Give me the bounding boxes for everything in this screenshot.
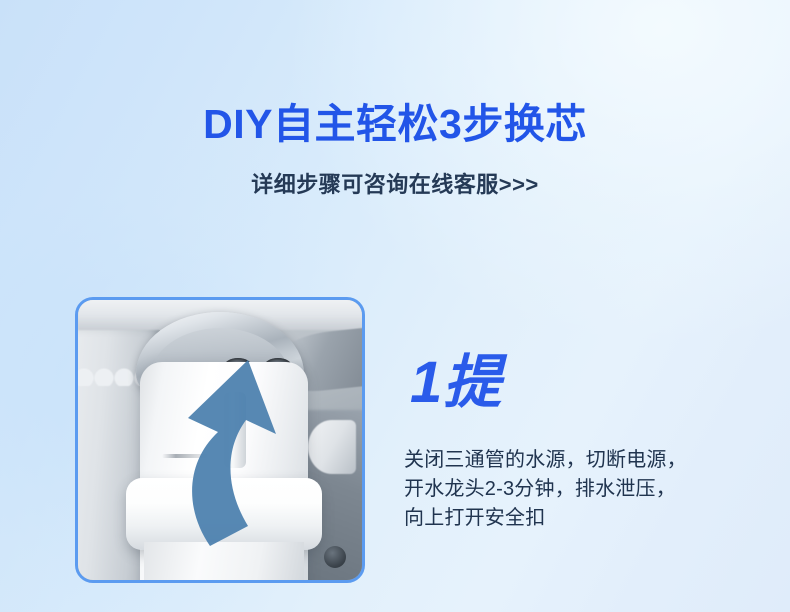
step-number-label: 1提 <box>410 354 502 412</box>
page-subtitle[interactable]: 详细步骤可咨询在线客服>>> <box>0 146 790 199</box>
promo-page: DIY自主轻松3步换芯 详细步骤可咨询在线客服>>> <box>0 0 790 612</box>
step-description-line-2: 开水龙头2-3分钟，排水泄压， <box>404 475 754 504</box>
step-photo-frame <box>75 297 365 583</box>
photo-screw <box>324 546 346 568</box>
step-description-line-1: 关闭三通管的水源，切断电源， <box>404 446 754 475</box>
curved-up-arrow-icon <box>174 358 314 548</box>
step-photo <box>78 300 362 580</box>
page-title: DIY自主轻松3步换芯 <box>0 0 790 146</box>
step-description: 关闭三通管的水源，切断电源， 开水龙头2-3分钟，排水泄压， 向上打开安全扣 <box>404 446 754 533</box>
header: DIY自主轻松3步换芯 详细步骤可咨询在线客服>>> <box>0 0 790 199</box>
step-block-1 <box>0 297 790 587</box>
step-description-line-3: 向上打开安全扣 <box>404 504 754 533</box>
photo-right-fitting <box>308 420 356 474</box>
